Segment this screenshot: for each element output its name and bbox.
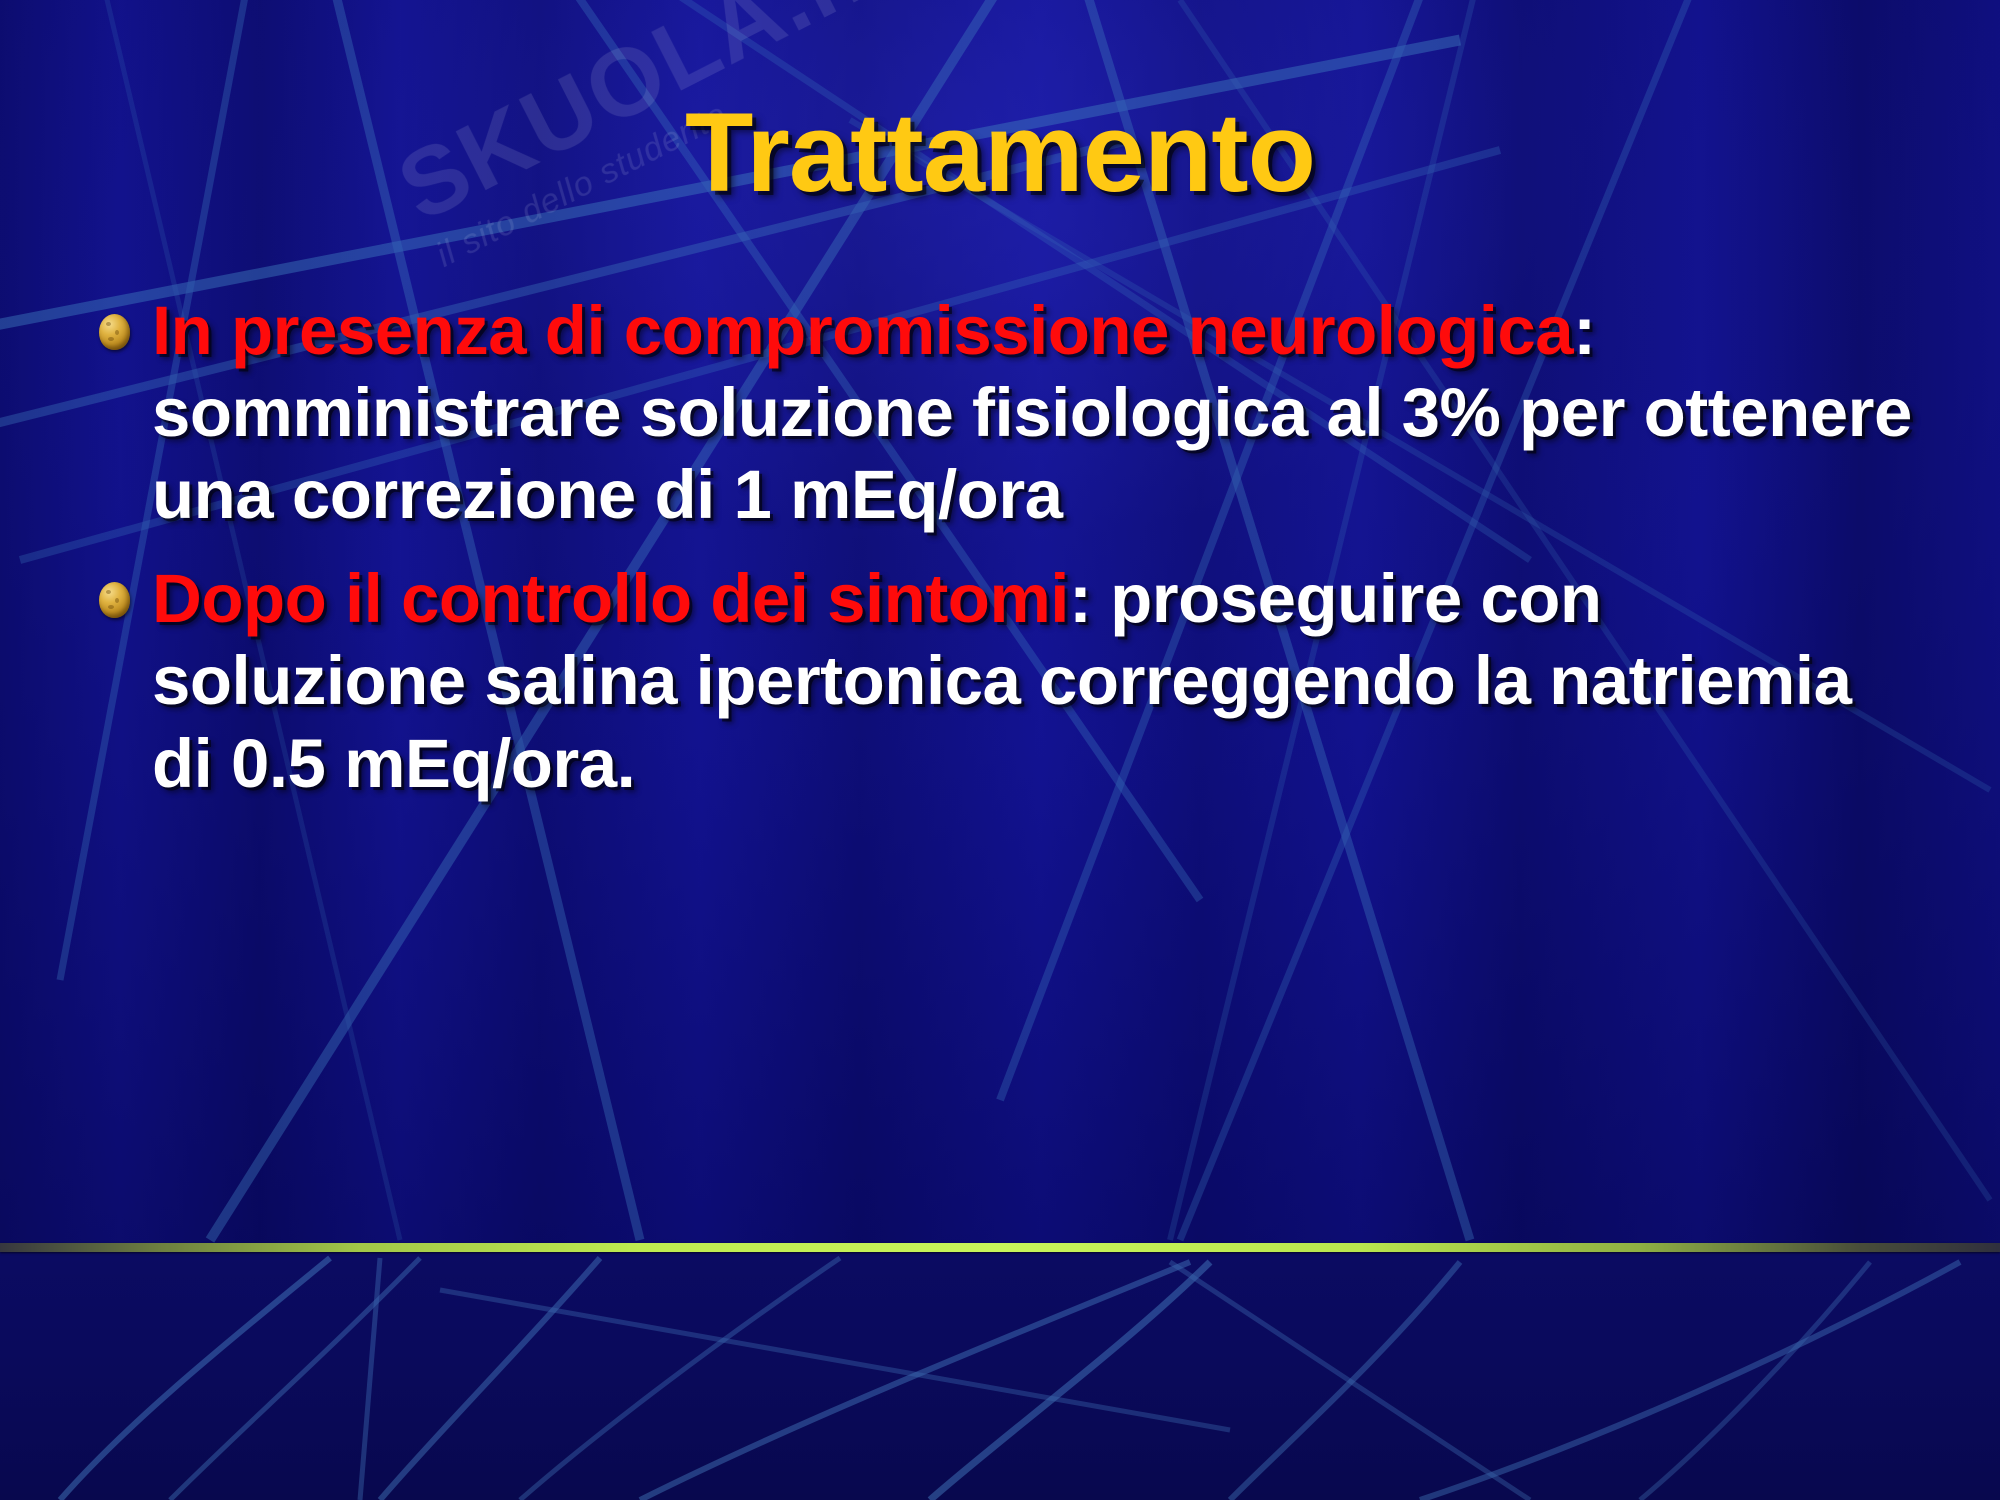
bullet-highlight: In presenza di compromissione neurologic… bbox=[152, 292, 1573, 369]
background-bottom-band bbox=[0, 1252, 2000, 1500]
bullet-text: In presenza di compromissione neurologic… bbox=[152, 290, 1916, 536]
slide-title: Trattamento bbox=[0, 88, 2000, 217]
bullet-item: In presenza di compromissione neurologic… bbox=[96, 290, 1916, 536]
bullet-text: Dopo il controllo dei sintomi: proseguir… bbox=[152, 558, 1916, 804]
slide-body: In presenza di compromissione neurologic… bbox=[96, 290, 1916, 827]
bullet-item: Dopo il controllo dei sintomi: proseguir… bbox=[96, 558, 1916, 804]
presentation-slide: SKUOLA.net il sito dello studente Tratta… bbox=[0, 0, 2000, 1500]
bullet-highlight: Dopo il controllo dei sintomi bbox=[152, 560, 1069, 637]
gold-sphere-bullet-icon bbox=[96, 312, 132, 352]
gold-sphere-bullet-icon bbox=[96, 580, 132, 620]
bottom-divider-line bbox=[0, 1243, 2000, 1252]
